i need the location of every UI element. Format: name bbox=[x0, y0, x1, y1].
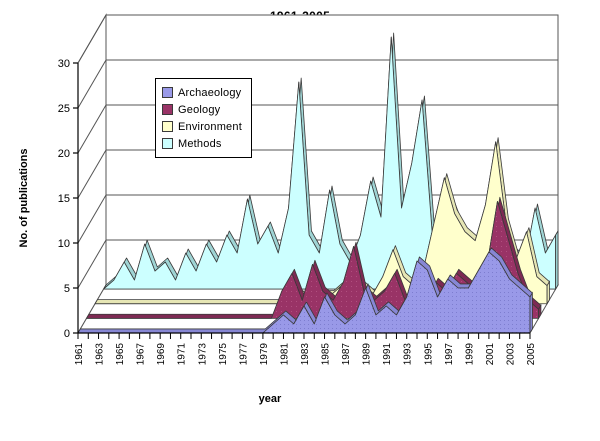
y-tick-label: 30 bbox=[58, 58, 70, 70]
legend-label-geology: Geology bbox=[178, 104, 220, 116]
x-tick-label: 2005 bbox=[526, 343, 537, 366]
legend-item-geology: Geology bbox=[162, 101, 242, 118]
x-tick-label: 1969 bbox=[156, 343, 167, 366]
x-tick-label: 1989 bbox=[362, 343, 373, 366]
y-tick-label: 10 bbox=[58, 238, 70, 250]
chart-legend: Archaeology Geology Environment Methods bbox=[155, 78, 252, 158]
x-tick-label: 1973 bbox=[197, 343, 208, 366]
x-tick-label: 1983 bbox=[300, 343, 311, 366]
legend-label-archaeology: Archaeology bbox=[178, 87, 241, 99]
x-tick-label: 1971 bbox=[177, 343, 188, 366]
x-axis-ticks: 1961196319651967196919711973197519771979… bbox=[74, 333, 537, 365]
y-tick-label: 5 bbox=[64, 283, 70, 295]
x-tick-label: 1991 bbox=[382, 343, 393, 366]
x-tick-label: 1993 bbox=[403, 343, 414, 366]
x-tick-label: 1977 bbox=[238, 343, 249, 366]
x-tick-label: 1995 bbox=[423, 343, 434, 366]
x-tick-label: 1963 bbox=[95, 343, 106, 366]
legend-label-environment: Environment bbox=[178, 121, 242, 133]
x-tick-label: 1985 bbox=[321, 343, 332, 366]
x-tick-label: 1965 bbox=[115, 343, 126, 366]
legend-item-archaeology: Archaeology bbox=[162, 84, 242, 101]
x-tick-label: 1997 bbox=[444, 343, 455, 366]
legend-swatch-methods bbox=[162, 138, 173, 149]
legend-swatch-environment bbox=[162, 121, 173, 132]
y-tick-label: 20 bbox=[58, 148, 70, 160]
y-tick-label: 25 bbox=[58, 103, 70, 115]
x-tick-label: 1981 bbox=[279, 343, 290, 366]
plot-area: 051015202530 196119631965196719691971197… bbox=[0, 0, 600, 441]
x-tick-label: 1967 bbox=[136, 343, 147, 366]
x-tick-label: 2003 bbox=[505, 343, 516, 366]
x-axis-label: year bbox=[200, 393, 340, 405]
legend-item-environment: Environment bbox=[162, 118, 242, 135]
x-tick-label: 1979 bbox=[259, 343, 270, 366]
legend-item-methods: Methods bbox=[162, 135, 242, 152]
legend-label-methods: Methods bbox=[178, 138, 222, 150]
y-tick-label: 0 bbox=[64, 328, 70, 340]
y-tick-label: 15 bbox=[58, 193, 70, 205]
x-tick-label: 1975 bbox=[218, 343, 229, 366]
legend-swatch-geology bbox=[162, 104, 173, 115]
x-tick-label: 1999 bbox=[464, 343, 475, 366]
y-axis-ticks: 051015202530 bbox=[58, 58, 78, 340]
x-tick-label: 2001 bbox=[485, 343, 496, 366]
x-tick-label: 1987 bbox=[341, 343, 352, 366]
x-tick-label: 1961 bbox=[74, 343, 85, 366]
legend-swatch-archaeology bbox=[162, 87, 173, 98]
chart-container: 1961-2005 No. of publications 0510152025… bbox=[0, 0, 600, 441]
